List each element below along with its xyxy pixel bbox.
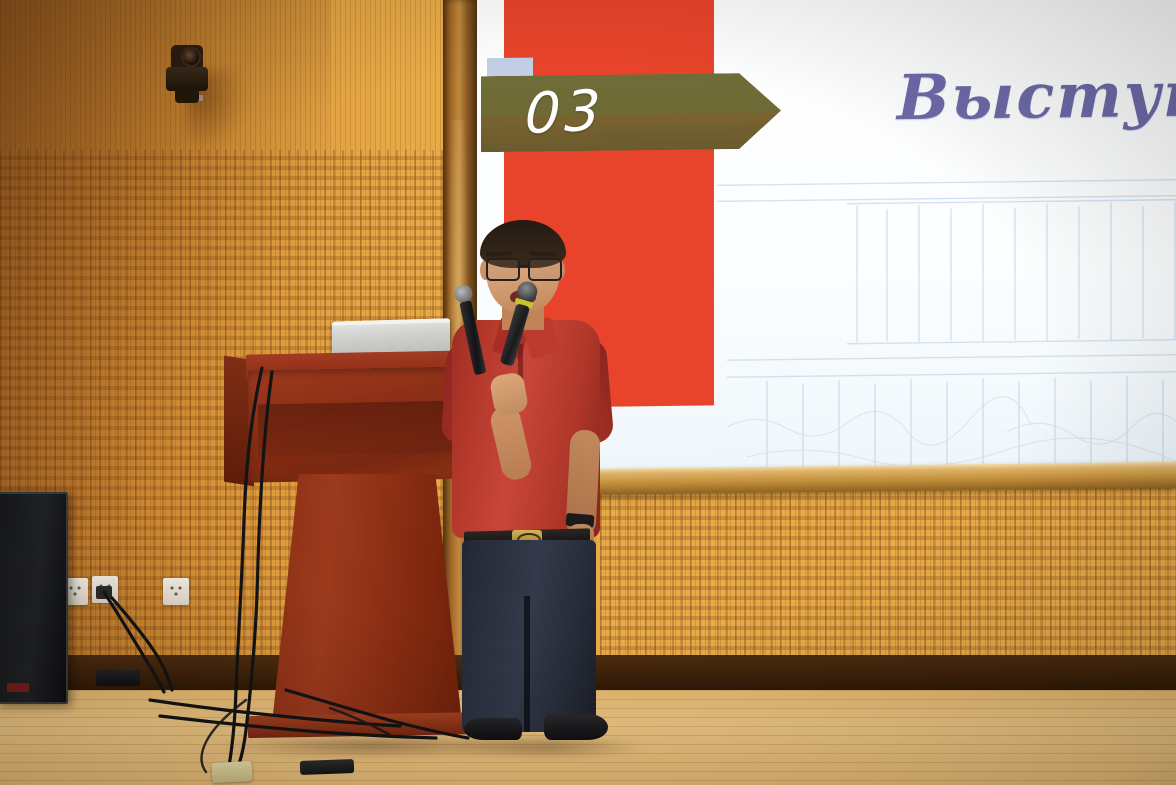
plugged-power-plug — [96, 586, 112, 599]
camera-lens-icon — [183, 49, 199, 65]
eyeglass-lens-left — [486, 258, 520, 281]
wall-outlet-3 — [163, 578, 189, 605]
architectural-sketch-watermark — [707, 134, 1176, 476]
camera-body — [166, 67, 208, 91]
trouser-leg-gap — [524, 596, 530, 732]
lectern-column — [272, 474, 462, 724]
floor-equipment-brick — [96, 670, 140, 686]
outlet-socket-icon — [68, 585, 82, 597]
outlet-socket-icon — [169, 585, 183, 597]
eyeglasses-icon — [484, 258, 564, 278]
camera-mount — [175, 89, 199, 103]
floor-cable-connector — [300, 759, 354, 775]
acoustic-panel-right — [600, 480, 1176, 658]
ptz-camera-icon — [166, 45, 210, 103]
slide-section-number: 03 — [524, 83, 605, 143]
presentation-photo-scene: 03 Выступ — [0, 0, 1176, 785]
presenter-shoe-right — [544, 714, 608, 740]
stage-loudspeaker — [0, 492, 68, 704]
loudspeaker-badge — [7, 683, 29, 692]
eyeglass-lens-right — [528, 258, 562, 281]
slide-section-arrow: 03 — [481, 73, 781, 153]
presenter-shoe-left — [464, 718, 522, 740]
slide-heading-text: Выступ — [897, 63, 1176, 129]
power-adapter-brick — [212, 761, 253, 783]
camera-head — [171, 45, 203, 69]
